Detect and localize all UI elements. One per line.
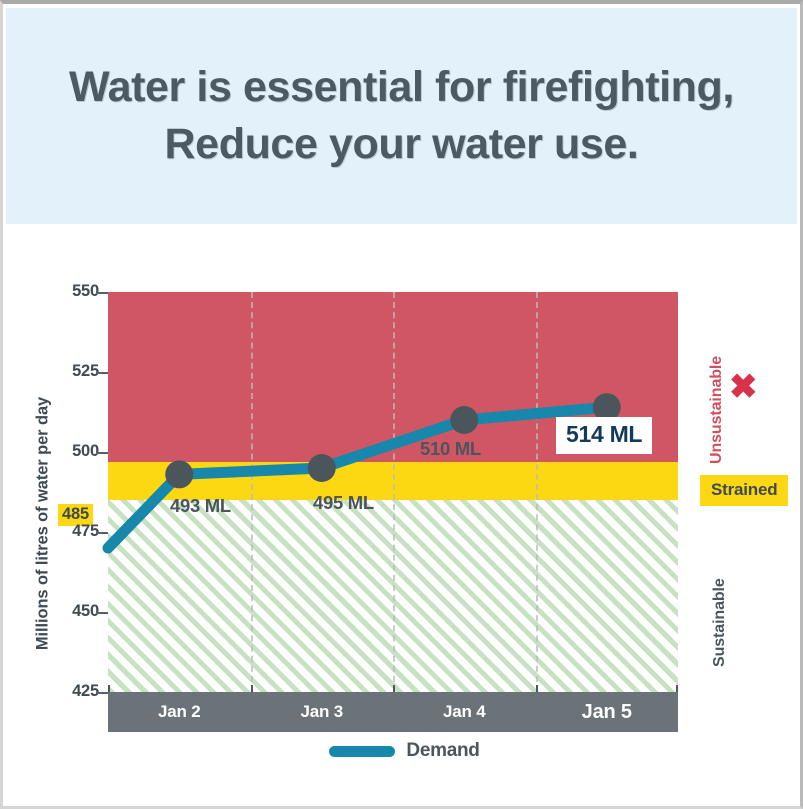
y-tick-label-425: 425 (55, 682, 99, 701)
page-title: Water is essential for firefighting, Red… (69, 59, 734, 173)
y-tick-label-550: 550 (55, 282, 99, 301)
x-tick-1 (251, 685, 253, 692)
x-tick-2 (393, 685, 395, 692)
page-title-line-1: Water is essential for firefighting, (69, 63, 734, 111)
y-tick-500 (96, 452, 108, 454)
x-axis-label-jan-3: Jan 3 (251, 692, 394, 732)
x-tick-3 (536, 685, 538, 692)
band-label-sustainable: Sustainable (711, 578, 729, 667)
y-tick-550 (96, 292, 108, 294)
page-title-line-2: Reduce your water use. (69, 116, 734, 173)
data-label-jan2: 493 ML (170, 495, 231, 517)
x-axis-label-jan-2: Jan 2 (108, 692, 251, 732)
data-label-jan3: 495 ML (313, 492, 374, 514)
y-tick-475 (96, 532, 108, 534)
data-label-jan5: 514 ML (556, 417, 652, 454)
demand-point-jan3 (308, 454, 336, 482)
cross-mark-icon: ✖ (729, 370, 758, 404)
band-label-unsustainable: Unsustainable (708, 356, 726, 464)
y-tick-label-525: 525 (55, 362, 99, 381)
demand-point-jan2 (165, 460, 193, 488)
band-legend: Unsustainable ✖ Strained Sustainable (686, 292, 803, 692)
header-banner: Water is essential for firefighting, Red… (6, 8, 797, 224)
y-tick-450 (96, 612, 108, 614)
chart-legend: Demand (3, 740, 803, 762)
demand-point-jan4 (450, 406, 478, 434)
demand-series (108, 292, 678, 692)
x-tick-4 (676, 685, 678, 692)
legend-swatch-demand (329, 746, 395, 757)
legend-label-demand: Demand (406, 740, 479, 762)
y-tick-label-475: 475 (55, 522, 99, 541)
demand-chart: Millions of litres of water per day 550 … (3, 224, 803, 809)
x-axis-label-jan-5: Jan 5 (536, 692, 679, 732)
y-tick-label-450: 450 (55, 602, 99, 621)
y-tick-label-500: 500 (55, 442, 99, 461)
data-label-jan4: 510 ML (420, 438, 481, 460)
x-tick-0 (108, 685, 110, 692)
plot-area: 493 ML 495 ML 510 ML 514 ML (108, 292, 678, 692)
y-tick-425 (96, 692, 108, 694)
y-tick-525 (96, 372, 108, 374)
x-axis-label-jan-4: Jan 4 (393, 692, 536, 732)
poster-page: Water is essential for firefighting, Red… (0, 0, 803, 809)
y-axis-title: Millions of litres of water per day (34, 324, 53, 724)
band-label-strained: Strained (700, 475, 788, 506)
x-axis-band: Jan 2 Jan 3 Jan 4 Jan 5 (108, 692, 678, 732)
